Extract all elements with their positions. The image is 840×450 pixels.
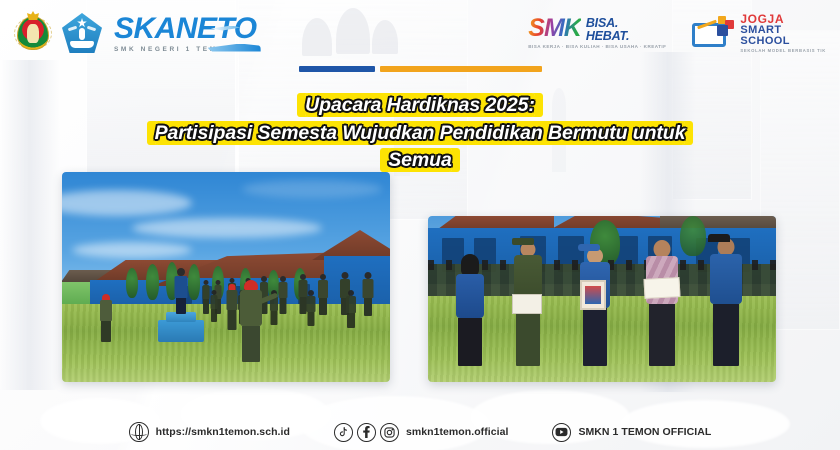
honoree-5-songkok: [708, 234, 730, 242]
poster-footer: https://smkn1temon.sch.id: [0, 422, 840, 442]
jss-tagline: SEKOLAH MODEL BERBASIS TIK: [740, 49, 826, 53]
certificate-1: [512, 294, 542, 314]
footer-website[interactable]: https://smkn1temon.sch.id: [129, 422, 290, 442]
jogja-smart-school-logo: JOGJA SMART SCHOOL SEKOLAH MODEL BERBASI…: [692, 13, 826, 53]
honoree-2-cap: [512, 238, 534, 245]
youtube-channel-label: SMKN 1 TEMON OFFICIAL: [578, 426, 711, 438]
header-left-logos: SKANETO SMK NEGERI 1 TEMON: [14, 11, 257, 55]
photo-flag-ceremony: [62, 172, 390, 382]
poster-canvas: SKANETO SMK NEGERI 1 TEMON SMK BISA. HEB…: [0, 0, 840, 450]
smk-tagline: BISA KERJA · BISA KULIAH · BISA USAHA · …: [528, 44, 666, 49]
honoree-1: [456, 254, 484, 366]
smk-bisa-hebat-logo: SMK BISA. HEBAT. BISA KERJA · BISA KULIA…: [528, 17, 666, 49]
tiktok-icon[interactable]: [334, 423, 353, 442]
yogyakarta-emblem-icon: [14, 11, 52, 55]
social-icons-row: [334, 423, 399, 442]
poster-title: Upacara Hardiknas 2025: Partisipasi Seme…: [0, 92, 840, 175]
ceremony-inspector: [174, 268, 187, 314]
jss-line-3: SCHOOL: [740, 36, 826, 47]
person-silhouette: [346, 290, 356, 328]
certificate-2-inner: [585, 286, 601, 304]
foreground-officer: [240, 280, 262, 362]
header-right-logos: SMK BISA. HEBAT. BISA KERJA · BISA KULIA…: [528, 13, 826, 53]
honoree-3-cap: [578, 244, 600, 251]
globe-icon: [129, 422, 149, 442]
ceremony-podium: [158, 320, 204, 342]
title-line-2: Partisipasi Semesta Wujudkan Pendidikan …: [0, 120, 840, 148]
person-silhouette: [318, 274, 328, 315]
footer-youtube[interactable]: SMKN 1 TEMON OFFICIAL: [552, 423, 711, 442]
tut-wuri-handayani-icon: [62, 13, 102, 53]
smart-screen-icon: [692, 16, 734, 50]
smk-wordmark: SMK: [528, 17, 581, 41]
person-silhouette: [306, 290, 315, 326]
title-line-1: Upacara Hardiknas 2025:: [0, 92, 840, 120]
skaneto-logo: SKANETO SMK NEGERI 1 TEMON: [112, 14, 257, 53]
certificate-3: [644, 277, 681, 299]
poster-header: SKANETO SMK NEGERI 1 TEMON SMK BISA. HEB…: [0, 0, 840, 66]
student-left: [100, 294, 112, 342]
person-silhouette: [278, 276, 287, 314]
accent-bar-orange: [380, 66, 542, 72]
accent-bar-group: [0, 66, 840, 72]
title-line-3: Semua: [0, 147, 840, 175]
youtube-icon[interactable]: [552, 423, 571, 442]
accent-bar-blue: [299, 66, 375, 72]
person-silhouette: [202, 280, 209, 314]
photo-certificate-award: [428, 216, 776, 382]
facebook-icon[interactable]: [357, 423, 376, 442]
website-label: https://smkn1temon.sch.id: [156, 426, 290, 438]
person-silhouette: [210, 290, 217, 322]
footer-social[interactable]: smkn1temon.official: [334, 423, 508, 442]
ceremony-commander: [226, 284, 237, 330]
honoree-4: [646, 240, 678, 366]
person-silhouette: [362, 272, 373, 316]
smk-hebat-label: HEBAT.: [586, 30, 629, 43]
instagram-icon[interactable]: [380, 423, 399, 442]
honoree-5: [710, 238, 742, 366]
social-handle-label: smkn1temon.official: [406, 426, 508, 438]
skaneto-wordmark: SKANETO: [114, 14, 257, 44]
